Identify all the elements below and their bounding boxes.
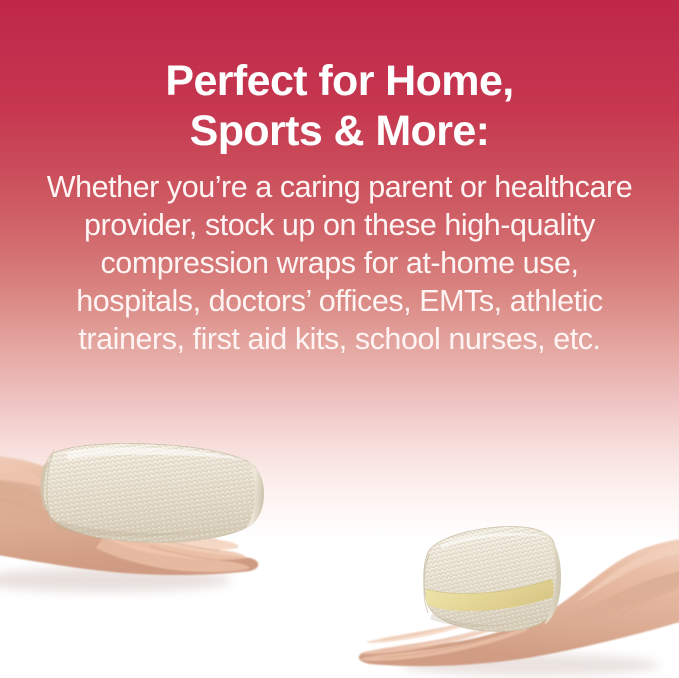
body-copy-line-2: provider, stock up on these high-quality bbox=[0, 206, 679, 244]
body-copy: Whether you’re a caring parent or health… bbox=[0, 168, 679, 358]
body-copy-line-4: hospitals, doctors’ offices, EMTs, athle… bbox=[0, 282, 679, 320]
page-title: Perfect for Home, Sports & More: bbox=[0, 56, 679, 156]
left-hand-holding-large-wrap bbox=[0, 424, 304, 594]
copy-block: Perfect for Home, Sports & More: Whether… bbox=[0, 0, 679, 358]
right-hand-illustration bbox=[330, 505, 679, 678]
body-copy-line-1: Whether you’re a caring parent or health… bbox=[0, 168, 679, 206]
body-copy-line-5: trainers, first aid kits, school nurses,… bbox=[0, 320, 679, 358]
wrap-knit-texture bbox=[424, 527, 558, 632]
large-compression-wrap bbox=[40, 443, 264, 542]
headline-line-2: Sports & More: bbox=[0, 106, 679, 156]
small-compression-wrap bbox=[424, 527, 561, 632]
body-copy-line-3: compression wraps for at-home use, bbox=[0, 244, 679, 282]
right-hand-holding-small-wrap bbox=[330, 505, 679, 678]
left-hand-illustration bbox=[0, 424, 304, 594]
promo-banner: Perfect for Home, Sports & More: Whether… bbox=[0, 0, 679, 678]
headline-line-1: Perfect for Home, bbox=[0, 56, 679, 106]
